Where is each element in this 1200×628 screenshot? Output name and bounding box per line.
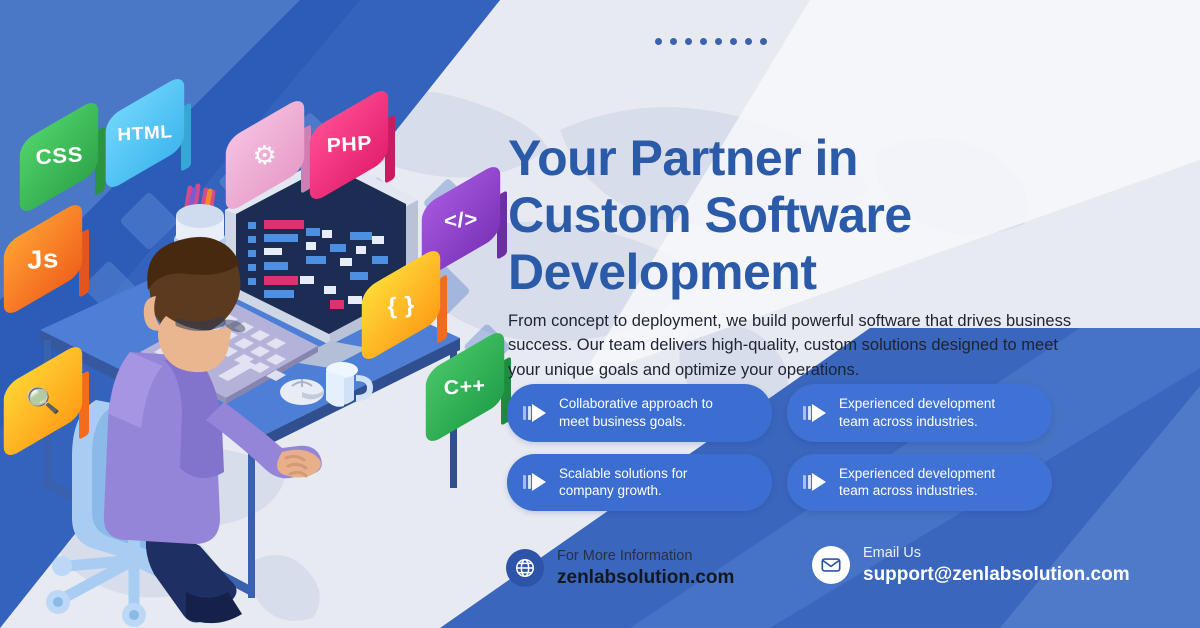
tech-badge-label: CSS <box>35 143 83 170</box>
website-value[interactable]: zenlabsolution.com <box>557 566 734 590</box>
feature-pill[interactable]: Collaborative approach to meet business … <box>507 384 772 442</box>
dot <box>655 38 662 45</box>
globe-icon <box>506 549 544 587</box>
feature-line: meet business goals. <box>559 414 686 429</box>
page-title: Your Partner in Custom Software Developm… <box>508 130 1068 301</box>
feature-line: Collaborative approach to <box>559 396 713 411</box>
tech-badge-label: Js <box>27 242 60 275</box>
dot <box>700 38 707 45</box>
tech-badge-html: HTML <box>108 96 182 170</box>
feature-pill[interactable]: Experienced development team across indu… <box>787 384 1052 442</box>
feature-line: Experienced development <box>839 466 995 481</box>
feature-list: Collaborative approach to meet business … <box>507 384 1067 511</box>
promo-banner: CSS HTML Js ⚙ PHP </> { } <box>0 0 1200 628</box>
tech-badge-php: PHP <box>312 108 386 182</box>
email-label: Email Us <box>863 544 1130 562</box>
tech-badge-css: CSS <box>22 120 96 194</box>
tech-badge-braces: { } <box>364 268 438 342</box>
headline-line-1: Your Partner in <box>508 130 1068 187</box>
braces-icon: { } <box>387 291 415 320</box>
dot <box>685 38 692 45</box>
email-value[interactable]: support@zenlabsolution.com <box>863 563 1130 587</box>
tech-badge-code: </> <box>424 184 498 258</box>
feature-pill-text: Experienced development team across indu… <box>839 395 995 431</box>
search-icon: 🔍 <box>25 384 61 417</box>
tech-badge-cpp: C++ <box>428 350 502 424</box>
dot <box>670 38 677 45</box>
feature-pill[interactable]: Scalable solutions for company growth. <box>507 454 772 512</box>
feature-line: team across industries. <box>839 414 978 429</box>
dot <box>715 38 722 45</box>
feature-line: company growth. <box>559 483 662 498</box>
email-contact[interactable]: Email Us support@zenlabsolution.com <box>812 544 1130 587</box>
code-tag-icon: </> <box>444 208 479 234</box>
arrow-right-icon <box>523 472 547 492</box>
tech-badge-js: Js <box>6 222 80 296</box>
feature-pill-text: Experienced development team across indu… <box>839 465 995 501</box>
feature-pill-text: Collaborative approach to meet business … <box>559 395 713 431</box>
arrow-right-icon <box>803 403 827 423</box>
mouse <box>280 379 324 405</box>
tech-badge-label: PHP <box>326 132 372 158</box>
tech-badge-search: 🔍 <box>6 364 80 438</box>
website-contact[interactable]: For More Information zenlabsolution.com <box>506 547 734 590</box>
tech-badge-label: C++ <box>444 374 486 400</box>
arrow-right-icon <box>803 472 827 492</box>
website-label: For More Information <box>557 547 734 565</box>
dot <box>760 38 767 45</box>
feature-pill-text: Scalable solutions for company growth. <box>559 465 687 501</box>
envelope-icon <box>812 546 850 584</box>
feature-line: team across industries. <box>839 483 978 498</box>
decorative-dots <box>655 38 767 45</box>
feature-line: Scalable solutions for <box>559 466 687 481</box>
description-paragraph: From concept to deployment, we build pow… <box>508 309 1088 383</box>
tech-badge-label: HTML <box>117 121 173 146</box>
feature-pill[interactable]: Experienced development team across indu… <box>787 454 1052 512</box>
dot <box>745 38 752 45</box>
dot <box>730 38 737 45</box>
feature-line: Experienced development <box>839 396 995 411</box>
gears-icon: ⚙ <box>252 139 278 172</box>
headline-line-3: Development <box>508 244 1068 301</box>
headline-line-2: Custom Software <box>508 187 1068 244</box>
arrow-right-icon <box>523 403 547 423</box>
tech-badge-gears: ⚙ <box>228 118 302 192</box>
